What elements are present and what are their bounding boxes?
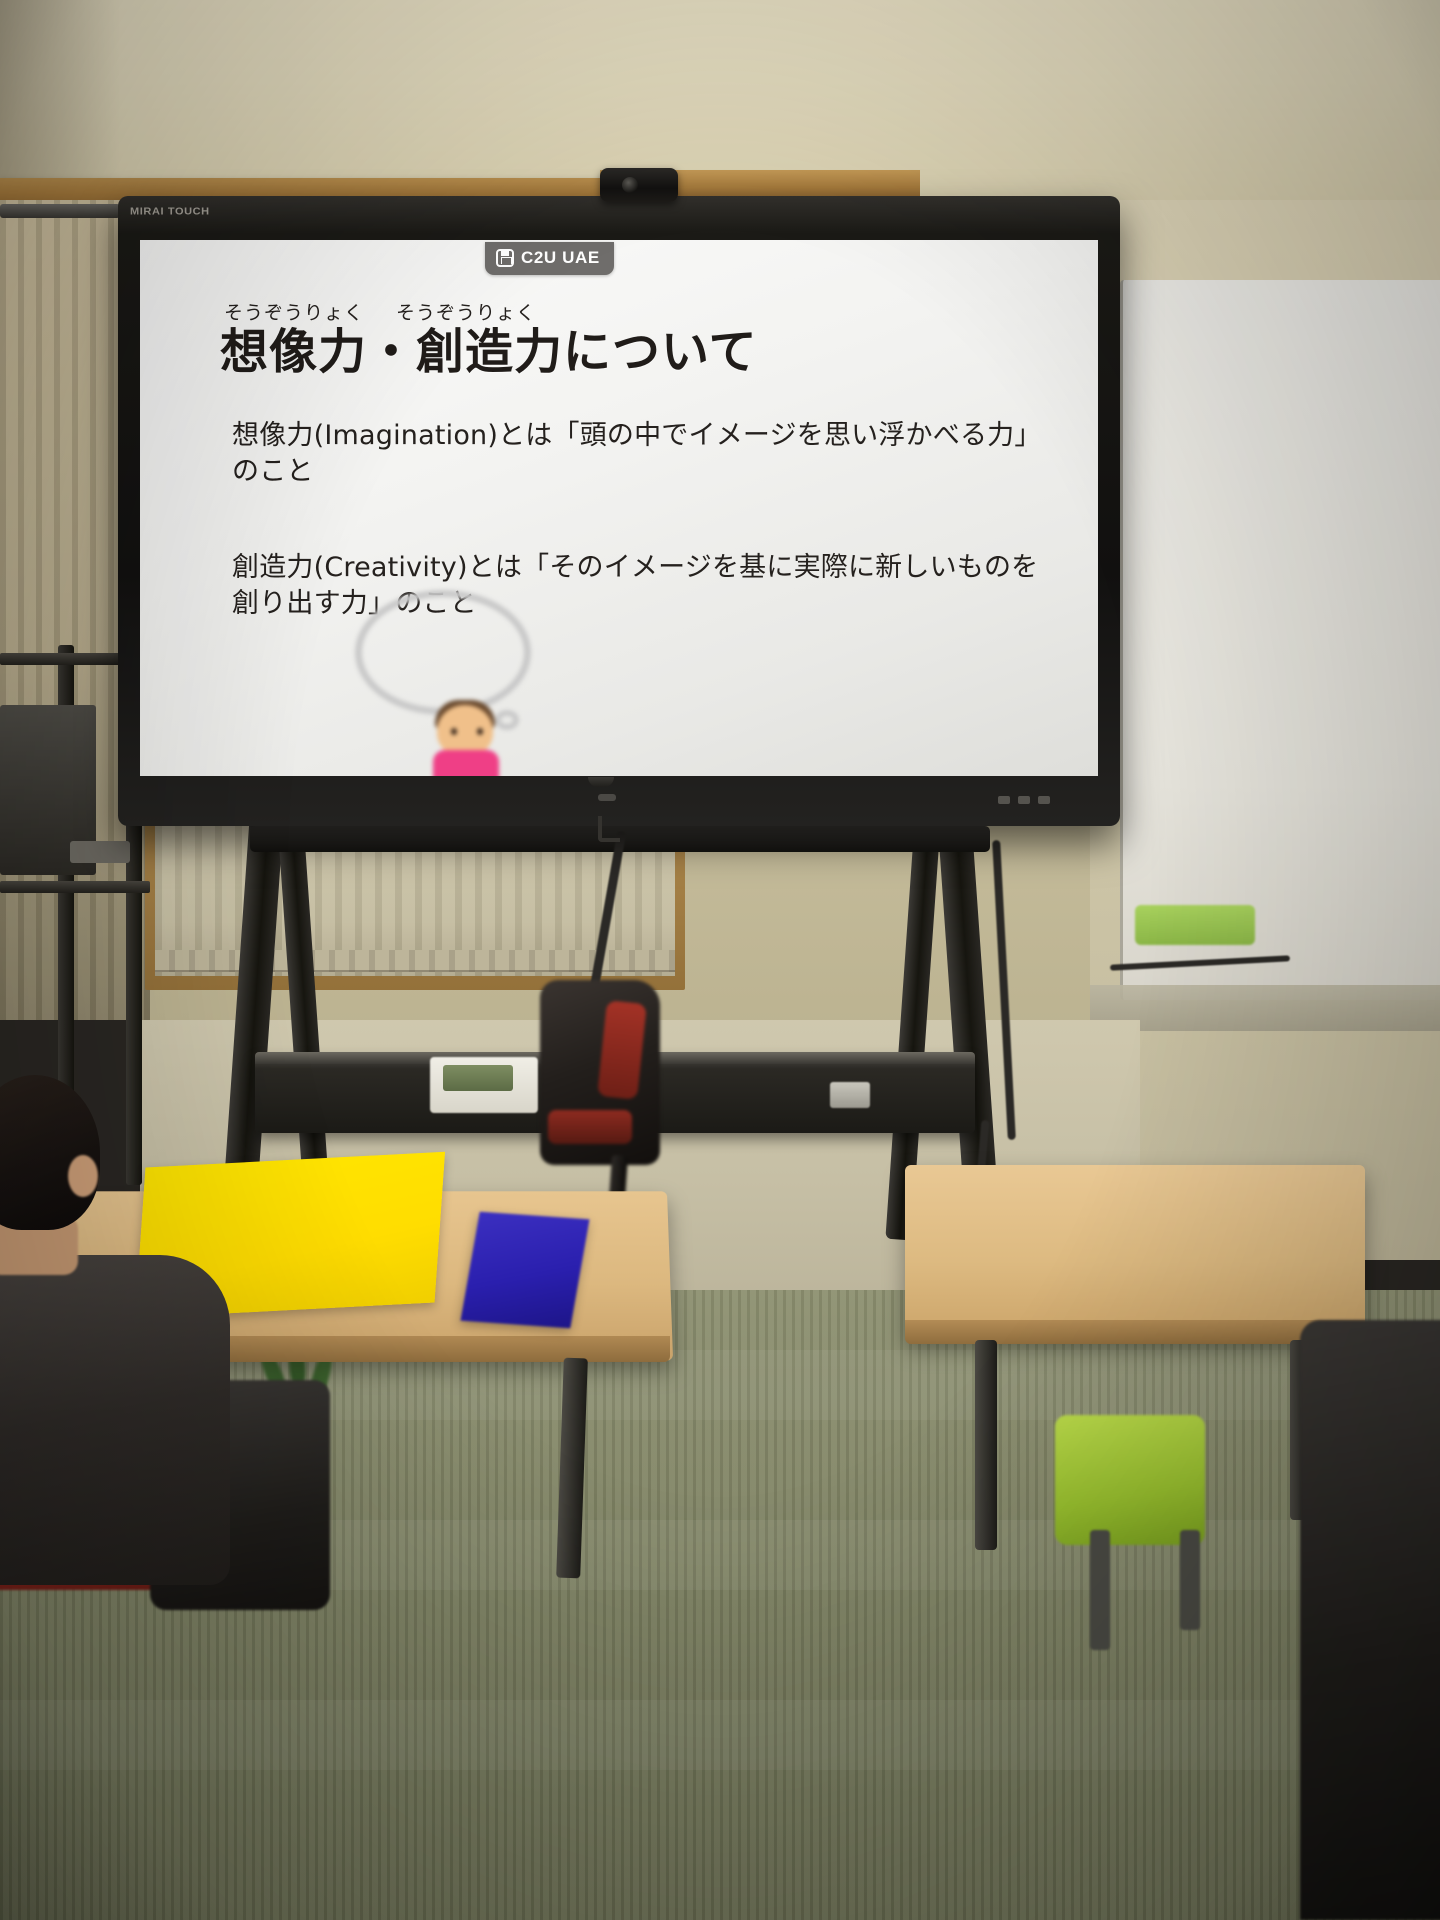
interactive-whiteboard-display[interactable]: MIRAI TOUCH C2U UAE そうぞうりょく そうぞうりょく 想像力・… [118,196,1120,826]
webcam [600,168,678,202]
thought-bubble-illustration [345,590,575,776]
classroom-photo-scene: MIRAI TOUCH C2U UAE そうぞうりょく そうぞうりょく 想像力・… [0,0,1440,1920]
display-ir-sensor [598,794,616,801]
display-port-b[interactable] [1018,796,1030,804]
character-body [433,750,499,776]
person-torso [0,1255,230,1585]
presentation-slide: C2U UAE そうぞうりょく そうぞうりょく 想像力・創造力について 想像力(… [140,240,1098,776]
desk-right-leg-left [975,1340,997,1550]
furigana-second: そうぞうりょく [396,298,536,325]
slide-badge-label: C2U UAE [521,248,600,268]
character-eye-left [451,728,457,735]
furigana-first: そうぞうりょく [224,298,396,325]
slide-title-block: そうぞうりょく そうぞうりょく 想像力・創造力について [220,298,758,380]
display-screen[interactable]: C2U UAE そうぞうりょく そうぞうりょく 想像力・創造力について 想像力(… [140,240,1098,776]
shelf-device-screen [443,1065,513,1091]
display-port-c[interactable] [1038,796,1050,804]
wall-shadow [0,0,120,200]
stylus-hook [598,816,620,842]
curtain-rod [0,204,120,218]
rack-shelf [0,881,150,893]
rack-hook [70,841,130,863]
slide-paragraph-imagination: 想像力(Imagination)とは「頭の中でイメージを思い浮かべる力」のこと [232,418,1062,490]
webcam-lens-icon [622,177,638,193]
save-disk-icon [496,249,514,267]
furigana-row: そうぞうりょく そうぞうりょく [220,298,758,325]
display-port-a[interactable] [998,796,1010,804]
blue-folder [461,1212,590,1329]
person-head [0,1075,100,1230]
chair-green [1055,1415,1205,1545]
chair-dark-right [1300,1320,1440,1920]
green-object [1135,905,1255,945]
thought-bubble-icon [355,590,531,715]
slide-badge: C2U UAE [485,242,614,275]
character-eye-right [477,728,483,735]
right-wall-panel [1120,280,1440,1000]
thought-bubble-tail [495,710,519,730]
desk-right [905,1165,1365,1340]
display-brand-label: MIRAI TOUCH [130,207,210,218]
seated-person [0,1075,290,1575]
chair-green-leg [1090,1530,1110,1650]
chair-green-leg-2 [1180,1530,1200,1630]
right-wall-band [1090,985,1440,1031]
slide-title: 想像力・創造力について [220,326,758,380]
rig-red-strap [548,1110,632,1144]
person-ear [68,1155,98,1197]
shelf-small-box [830,1082,870,1108]
display-bottom-bezel [140,776,1098,816]
floor-stripe [0,1700,1440,1770]
